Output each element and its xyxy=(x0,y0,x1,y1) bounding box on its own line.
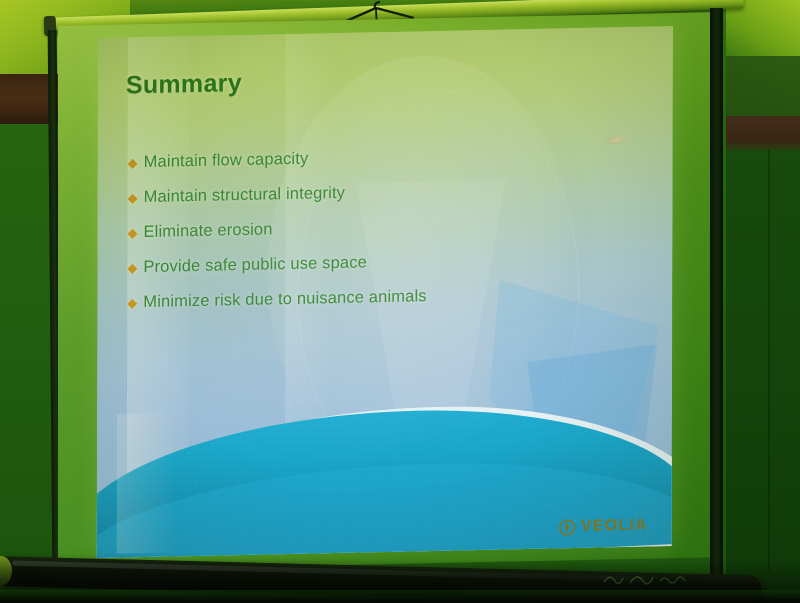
projected-slide: Summary ◆ Maintain flow capacity ◆ Maint… xyxy=(97,26,673,558)
bullet-diamond-icon: ◆ xyxy=(128,191,144,204)
ceiling-light-glow-right xyxy=(726,0,800,58)
bullet-text: Eliminate erosion xyxy=(143,220,272,242)
list-item: ◆ Eliminate erosion xyxy=(127,213,627,242)
projected-slide-photo: Summary ◆ Maintain flow capacity ◆ Maint… xyxy=(0,0,800,603)
wall-seam-line xyxy=(768,150,770,570)
wave-sheen xyxy=(117,412,177,553)
wall-right-dark xyxy=(726,150,800,603)
bottom-dark-band xyxy=(0,590,800,603)
veolia-droplet-circle-icon xyxy=(559,518,576,535)
bullet-diamond-icon: ◆ xyxy=(128,156,144,169)
slide-title: Summary xyxy=(126,69,242,100)
veolia-logo: VEOLIA xyxy=(559,516,648,536)
list-item: ◆ Maintain structural integrity xyxy=(128,178,628,207)
list-item: ◆ Provide safe public use space xyxy=(127,248,627,277)
bullet-diamond-icon: ◆ xyxy=(127,296,143,309)
bullet-text: Maintain structural integrity xyxy=(144,184,346,207)
bullet-diamond-icon: ◆ xyxy=(127,261,143,274)
slide-bullet-list: ◆ Maintain flow capacity ◆ Maintain stru… xyxy=(127,143,627,328)
bullet-diamond-icon: ◆ xyxy=(127,226,143,239)
wall-panel-upper-right xyxy=(726,56,800,116)
bullet-text: Provide safe public use space xyxy=(143,253,367,277)
list-item: ◆ Minimize risk due to nuisance animals xyxy=(127,283,627,312)
bullet-text: Maintain flow capacity xyxy=(144,150,309,172)
screen-right-edge xyxy=(710,8,723,588)
bullet-text: Minimize risk due to nuisance animals xyxy=(143,287,426,312)
veolia-wordmark: VEOLIA xyxy=(581,516,648,535)
